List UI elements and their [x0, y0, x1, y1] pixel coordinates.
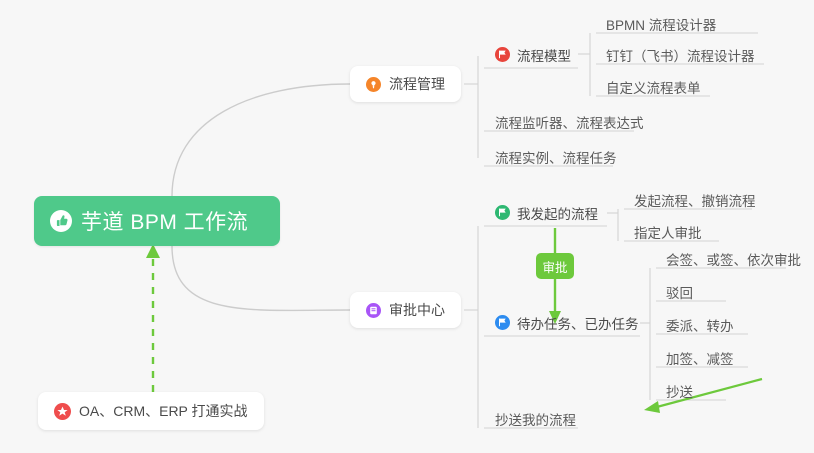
node-label-reject: 驳回 [666, 287, 693, 301]
node-dingtalk-feishu-designer[interactable]: 钉钉（飞书）流程设计器 [598, 39, 763, 66]
node-reject[interactable]: 驳回 [658, 276, 701, 303]
branch-node-process-management[interactable]: 流程管理 [350, 66, 461, 102]
thumbs-up-icon [50, 210, 72, 232]
node-todo-done-task[interactable]: 待办任务、已办任务 [487, 309, 647, 336]
star-icon [54, 403, 71, 420]
node-add-remove-sign[interactable]: 加签、减签 [658, 342, 742, 369]
integration-note-node[interactable]: OA、CRM、ERP 打通实战 [38, 392, 264, 430]
node-label-process-model: 流程模型 [517, 45, 571, 65]
node-label-countersign-orsign-sequential: 会签、或签、依次审批 [666, 254, 801, 268]
approval-badge-label: 审批 [542, 257, 567, 276]
node-label-assignee-approval: 指定人审批 [634, 227, 702, 241]
dashed-arrowhead-root [146, 244, 160, 258]
integration-note-label: OA、CRM、ERP 打通实战 [79, 401, 248, 421]
node-label-delegate-transfer: 委派、转办 [666, 320, 734, 334]
node-label-my-initiated-process: 我发起的流程 [517, 203, 598, 223]
node-cc-to-me-process[interactable]: 抄送我的流程 [487, 403, 584, 430]
node-process-model[interactable]: 流程模型 [487, 41, 579, 68]
node-bpmn-designer[interactable]: BPMN 流程设计器 [598, 8, 724, 35]
node-process-listener-expression[interactable]: 流程监听器、流程表达式 [487, 106, 652, 133]
highlight-arrowhead-ccme [644, 401, 660, 413]
node-label-start-cancel-process: 发起流程、撤销流程 [634, 195, 756, 209]
mindmap-canvas: 芋道 BPM 工作流 流程管理 流程模型 流程监听器、流程表达式 流程实例、流程… [0, 0, 814, 453]
location-pin-icon [366, 77, 381, 92]
branch-label-process-management: 流程管理 [389, 74, 445, 94]
node-label-cc: 抄送 [666, 386, 693, 400]
node-label-process-listener-expression: 流程监听器、流程表达式 [495, 117, 644, 131]
node-label-bpmn-designer: BPMN 流程设计器 [606, 19, 716, 33]
flag-icon [495, 47, 510, 62]
connector-root-to-approval-center [172, 246, 350, 310]
branch-node-approval-center[interactable]: 审批中心 [350, 292, 461, 328]
node-cc[interactable]: 抄送 [658, 375, 701, 402]
node-countersign-orsign-sequential[interactable]: 会签、或签、依次审批 [658, 243, 809, 270]
flag-icon [495, 315, 510, 330]
node-assignee-approval[interactable]: 指定人审批 [626, 216, 710, 243]
node-label-cc-to-me-process: 抄送我的流程 [495, 414, 576, 428]
branch-label-approval-center: 审批中心 [389, 300, 445, 320]
flag-icon [495, 205, 510, 220]
node-label-custom-process-form: 自定义流程表单 [606, 82, 701, 96]
node-label-process-instance-task: 流程实例、流程任务 [495, 152, 617, 166]
approval-badge[interactable]: 审批 [536, 253, 574, 279]
node-my-initiated-process[interactable]: 我发起的流程 [487, 199, 606, 226]
node-delegate-transfer[interactable]: 委派、转办 [658, 309, 742, 336]
node-label-dingtalk-feishu-designer: 钉钉（飞书）流程设计器 [606, 50, 755, 64]
node-label-todo-done-task: 待办任务、已办任务 [517, 313, 639, 333]
node-label-add-remove-sign: 加签、减签 [666, 353, 734, 367]
connector-root-to-process-management [172, 84, 350, 196]
root-node[interactable]: 芋道 BPM 工作流 [34, 196, 280, 246]
clipboard-icon [366, 303, 381, 318]
node-custom-process-form[interactable]: 自定义流程表单 [598, 71, 709, 98]
node-start-cancel-process[interactable]: 发起流程、撤销流程 [626, 184, 764, 211]
node-process-instance-task[interactable]: 流程实例、流程任务 [487, 141, 625, 168]
root-label: 芋道 BPM 工作流 [81, 206, 248, 236]
